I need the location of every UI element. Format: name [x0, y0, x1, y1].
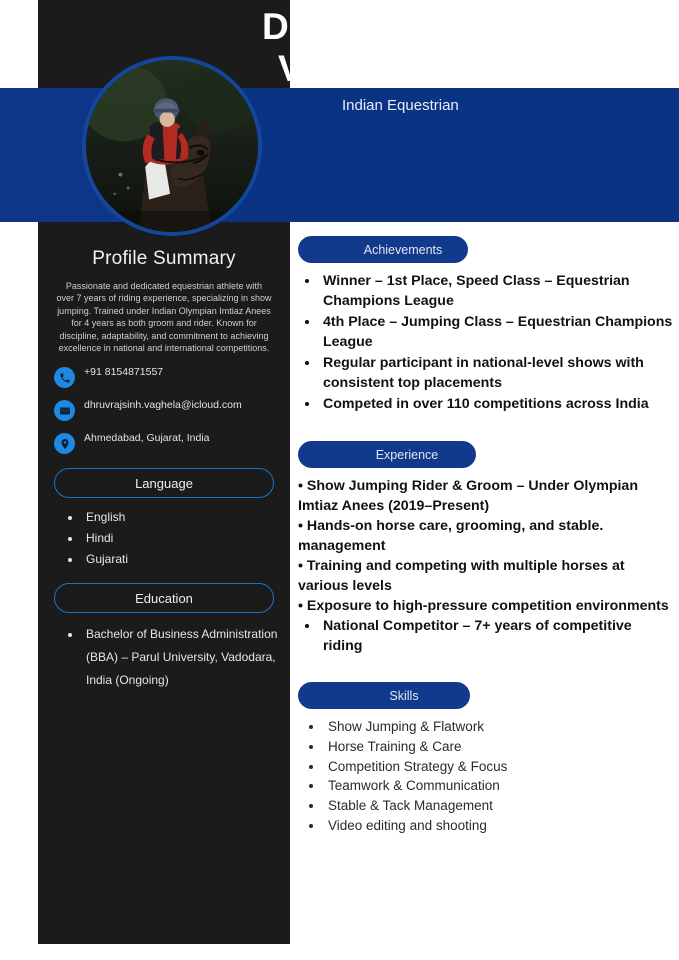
list-item: Competition Strategy & Focus	[324, 757, 674, 777]
education-list: Bachelor of Business Administration (BBA…	[48, 623, 280, 692]
education-title: Education	[135, 591, 193, 606]
list-item: Video editing and shooting	[324, 816, 674, 836]
profile-summary-text: Passionate and dedicated equestrian athl…	[56, 280, 272, 354]
list-item: National Competitor – 7+ years of compet…	[320, 616, 674, 656]
experience-line: • Training and competing with multiple h…	[298, 556, 674, 596]
experience-title: Experience	[336, 448, 439, 462]
header-text-block: DHRUVRAJSINH VAGHELA Indian Equestrian	[262, 6, 671, 116]
header-subtitle: Indian Equestrian	[262, 96, 671, 116]
language-title: Language	[135, 476, 193, 491]
name-last: VAGHELA	[262, 48, 671, 90]
email-icon	[54, 400, 75, 421]
profile-photo	[82, 56, 262, 236]
list-item: English	[82, 508, 280, 527]
experience-line: • Show Jumping Rider & Groom – Under Oly…	[298, 476, 674, 516]
list-item: Stable & Tack Management	[324, 796, 674, 816]
experience-line: • Hands-on horse care, grooming, and sta…	[298, 516, 674, 556]
list-item: Show Jumping & Flatwork	[324, 717, 674, 737]
section-header-skills: Skills	[298, 682, 470, 709]
experience-line: • Exposure to high-pressure competition …	[298, 596, 674, 616]
sidebar-section-language: Language	[54, 468, 274, 498]
sidebar-content: Profile Summary Passionate and dedicated…	[38, 240, 290, 696]
language-list: English Hindi Gujarati	[48, 508, 280, 569]
list-item: Horse Training & Care	[324, 737, 674, 757]
list-item: Gujarati	[82, 550, 280, 569]
phone-icon	[54, 367, 75, 388]
experience-bullet-list: National Competitor – 7+ years of compet…	[298, 616, 674, 656]
sidebar-section-education: Education	[54, 583, 274, 613]
list-item: Hindi	[82, 529, 280, 548]
main-content: Achievements Winner – 1st Place, Speed C…	[298, 236, 674, 836]
list-item: Teamwork & Communication	[324, 776, 674, 796]
resume-page: DHRUVRAJSINH VAGHELA Indian Equestrian	[0, 0, 679, 960]
location-icon	[54, 433, 75, 454]
list-item: Competed in over 110 competitions across…	[320, 394, 674, 414]
name-first: DHRUVRAJSINH	[262, 6, 671, 48]
contact-phone[interactable]: +91 8154871557	[48, 366, 280, 388]
contact-phone-value: +91 8154871557	[84, 366, 163, 379]
achievements-list: Winner – 1st Place, Speed Class – Equest…	[298, 271, 674, 414]
list-item: Winner – 1st Place, Speed Class – Equest…	[320, 271, 674, 311]
skills-title: Skills	[349, 689, 418, 703]
list-item: Regular participant in national-level sh…	[320, 353, 674, 393]
section-header-experience: Experience	[298, 441, 476, 468]
list-item: Bachelor of Business Administration (BBA…	[82, 623, 280, 692]
contact-email-value: dhruvrajsinh.vaghela@icloud.com	[84, 399, 242, 412]
section-header-achievements: Achievements	[298, 236, 468, 263]
achievements-title: Achievements	[324, 243, 443, 257]
contact-email[interactable]: dhruvrajsinh.vaghela@icloud.com	[48, 399, 280, 421]
experience-list: • Show Jumping Rider & Groom – Under Oly…	[298, 476, 674, 656]
profile-summary-heading: Profile Summary	[48, 248, 280, 270]
contact-location[interactable]: Ahmedabad, Gujarat, India	[48, 432, 280, 454]
contact-location-value: Ahmedabad, Gujarat, India	[84, 432, 210, 445]
skills-list: Show Jumping & Flatwork Horse Training &…	[298, 717, 674, 836]
contact-list: +91 8154871557 dhruvrajsinh.vaghela@iclo…	[48, 366, 280, 454]
list-item: 4th Place – Jumping Class – Equestrian C…	[320, 312, 674, 352]
